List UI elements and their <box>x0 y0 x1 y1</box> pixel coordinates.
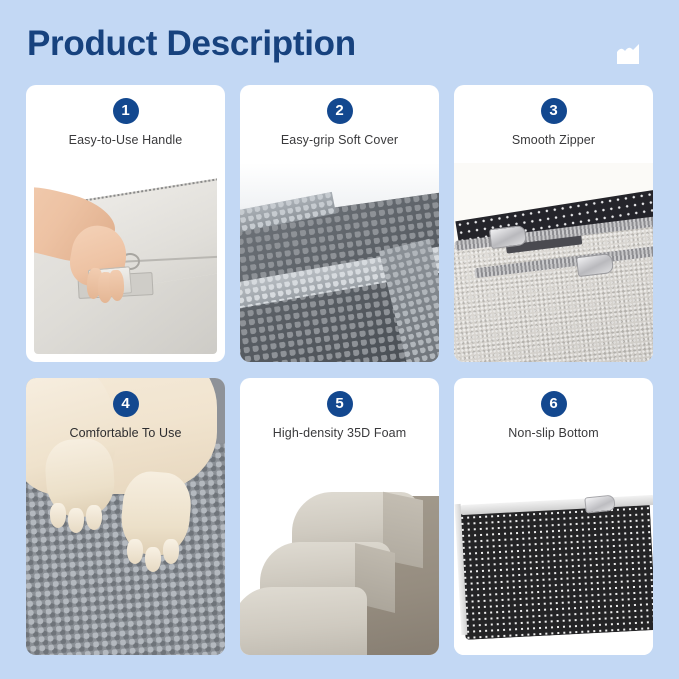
step-badge: 5 <box>327 391 353 417</box>
card-photo-foam-stairs <box>240 456 439 655</box>
corner-flag-icon <box>615 43 641 64</box>
card-label: Non-slip Bottom <box>454 426 653 440</box>
card-label: Easy-to-Use Handle <box>26 133 225 147</box>
feature-card-3[interactable]: 3 Smooth Zipper <box>454 85 653 362</box>
card-label: Comfortable To Use <box>26 426 225 440</box>
feature-card-6[interactable]: 6 Non-slip Bottom <box>454 378 653 655</box>
feature-card-grid: 1 Easy-to-Use Handle <box>26 85 654 655</box>
step-badge: 6 <box>541 391 567 417</box>
card-header: 5 High-density 35D Foam <box>240 391 439 469</box>
header: Product Description <box>0 0 679 85</box>
card-header: 3 Smooth Zipper <box>454 98 653 176</box>
step-badge: 3 <box>541 98 567 124</box>
card-label: Easy-grip Soft Cover <box>240 133 439 147</box>
product-description-infographic: Product Description 1 Easy-to-Use Handle <box>0 0 679 679</box>
feature-card-4[interactable]: 4 Comfortable To Use <box>26 378 225 655</box>
card-label: High-density 35D Foam <box>240 426 439 440</box>
card-photo-non-slip-bottom <box>454 456 653 655</box>
feature-card-1[interactable]: 1 Easy-to-Use Handle <box>26 85 225 362</box>
card-header: 6 Non-slip Bottom <box>454 391 653 469</box>
card-header: 1 Easy-to-Use Handle <box>26 98 225 176</box>
page-title: Product Description <box>27 24 356 64</box>
step-badge: 4 <box>113 391 139 417</box>
card-photo-soft-cover <box>240 163 439 362</box>
feature-card-5[interactable]: 5 High-density 35D Foam <box>240 378 439 655</box>
card-header: 4 Comfortable To Use <box>26 378 225 456</box>
card-photo-handle <box>34 163 217 354</box>
feature-card-2[interactable]: 2 Easy-grip Soft Cover <box>240 85 439 362</box>
card-label: Smooth Zipper <box>454 133 653 147</box>
card-photo-zipper <box>454 163 653 362</box>
card-header: 2 Easy-grip Soft Cover <box>240 98 439 176</box>
step-badge: 2 <box>327 98 353 124</box>
step-badge: 1 <box>113 98 139 124</box>
